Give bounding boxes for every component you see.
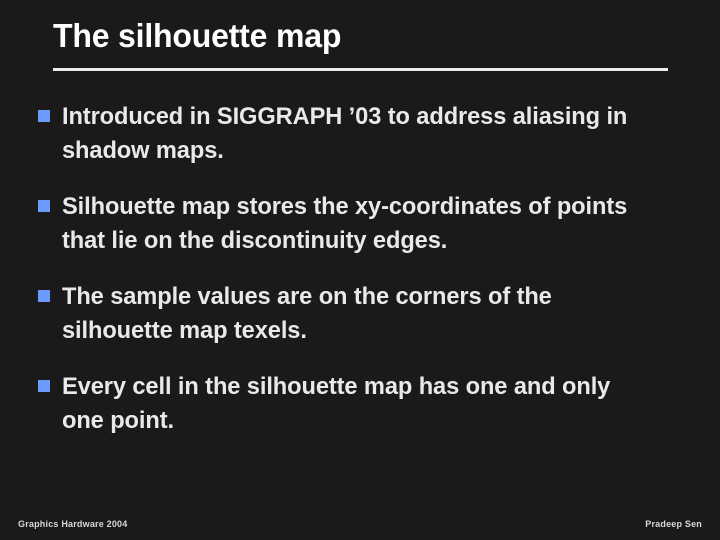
square-bullet-icon <box>38 200 50 212</box>
page-title: The silhouette map <box>53 16 650 56</box>
list-item: Silhouette map stores the xy-coordinates… <box>0 190 720 258</box>
list-item-label: Introduced in SIGGRAPH ’03 to address al… <box>62 100 653 168</box>
bullet-list: Introduced in SIGGRAPH ’03 to address al… <box>0 100 720 460</box>
list-item: The sample values are on the corners of … <box>0 280 720 348</box>
title-divider <box>53 68 668 71</box>
presentation-slide: The silhouette map Introduced in SIGGRAP… <box>0 0 720 540</box>
list-item: Every cell in the silhouette map has one… <box>0 370 720 438</box>
title-block: The silhouette map <box>53 16 668 56</box>
square-bullet-icon <box>38 110 50 122</box>
list-item: Introduced in SIGGRAPH ’03 to address al… <box>0 100 720 168</box>
list-item-label: Silhouette map stores the xy-coordinates… <box>62 190 653 258</box>
square-bullet-icon <box>38 380 50 392</box>
list-item-label: The sample values are on the corners of … <box>62 280 653 348</box>
list-item-label: Every cell in the silhouette map has one… <box>62 370 653 438</box>
footer-conference-label: Graphics Hardware 2004 <box>18 519 127 529</box>
footer-author-label: Pradeep Sen <box>645 519 702 529</box>
square-bullet-icon <box>38 290 50 302</box>
